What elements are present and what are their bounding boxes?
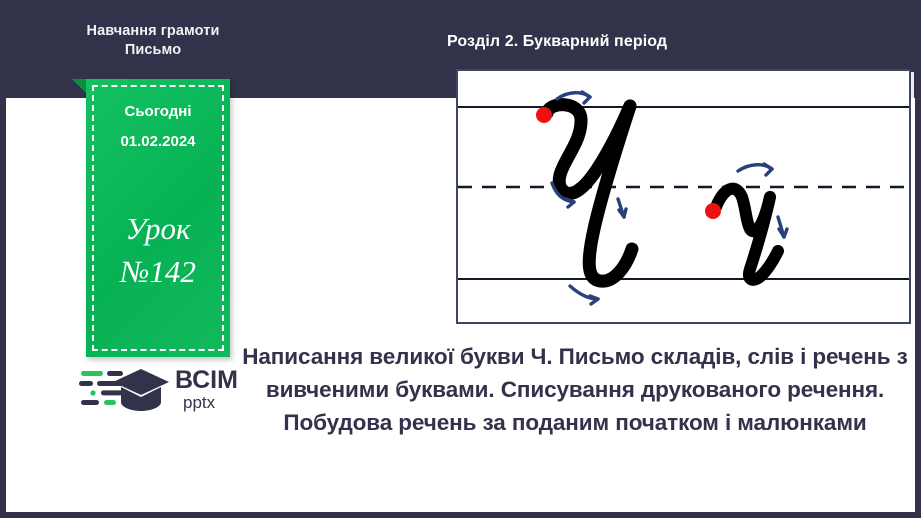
slide-edge-right bbox=[915, 98, 921, 518]
date-card-lesson-word: Урок bbox=[86, 207, 230, 250]
subject-title-line2: Письмо bbox=[38, 41, 268, 60]
handwriting-panel bbox=[456, 69, 911, 324]
logo-brand-text: ВСІМ bbox=[175, 366, 238, 394]
speed-line-1 bbox=[107, 371, 123, 376]
lowercase-che-start-dot bbox=[705, 203, 721, 219]
lesson-caption: Написання великої букви Ч. Письмо складі… bbox=[233, 340, 917, 439]
date-card-lesson-number: №142 bbox=[86, 250, 230, 293]
handwriting-graphic bbox=[458, 71, 909, 322]
speed-line-5 bbox=[81, 400, 99, 405]
date-card-today-label: Сьогодні bbox=[86, 97, 230, 127]
panel-background bbox=[458, 71, 909, 322]
logo-suffix-text: pptx bbox=[183, 393, 216, 412]
slide-edge-bottom bbox=[0, 512, 921, 518]
speed-line-green-1 bbox=[81, 371, 103, 376]
speed-dot-green bbox=[90, 390, 95, 395]
speed-line-4 bbox=[101, 390, 123, 395]
section-title: Розділ 2. Букварний період bbox=[447, 33, 667, 51]
bcim-pptx-logo: ВСІМ pptx bbox=[79, 362, 239, 414]
date-card-lesson: Урок №142 bbox=[86, 207, 230, 293]
subject-title: Навчання грамоти Письмо bbox=[38, 22, 268, 60]
date-card: Сьогодні 01.02.2024 Урок №142 bbox=[86, 79, 230, 357]
subject-title-line1: Навчання грамоти bbox=[38, 22, 268, 41]
slide-edge-left bbox=[0, 98, 6, 518]
speed-line-green-2 bbox=[104, 400, 116, 405]
capital-che-start-dot bbox=[536, 107, 552, 123]
speed-line-2 bbox=[79, 381, 93, 386]
logo-graphic: ВСІМ pptx bbox=[79, 362, 239, 414]
slide: Навчання грамоти Письмо Розділ 2. Буквар… bbox=[0, 0, 921, 518]
date-card-date-value: 01.02.2024 bbox=[86, 127, 230, 157]
